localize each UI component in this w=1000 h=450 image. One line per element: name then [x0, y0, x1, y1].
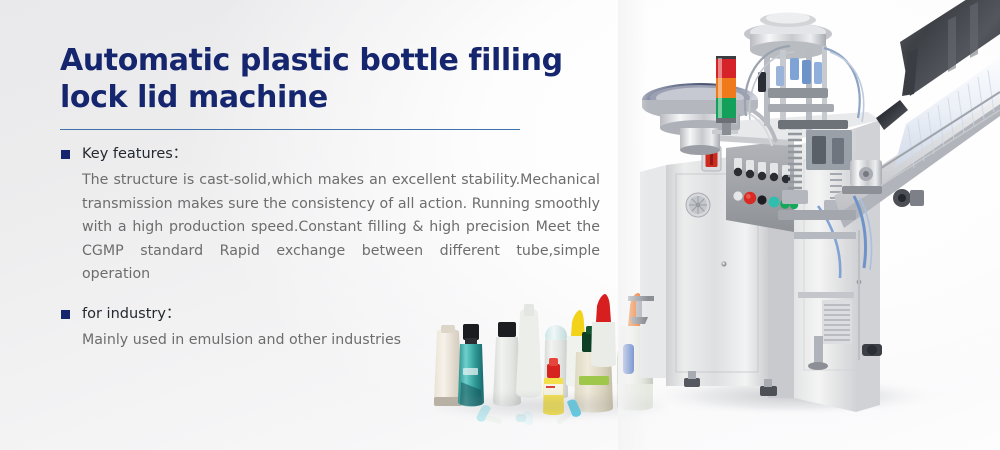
bullet-square-icon [61, 150, 70, 159]
section-body: Mainly used in emulsion and other indust… [60, 329, 600, 353]
section-key-features: Key features： The structure is cast-soli… [60, 145, 605, 287]
text-content: Automatic plastic bottle filling lock li… [60, 42, 605, 366]
machine-photo [618, 0, 1000, 450]
section-heading-label: for industry： [82, 306, 180, 322]
section-heading: for industry： [60, 305, 605, 324]
louvre-vent [822, 300, 852, 344]
bullet-square-icon [61, 310, 70, 319]
section-body: The structure is cast-solid,which makes … [60, 169, 600, 287]
title-divider [60, 129, 520, 130]
cooling-fan-vent [686, 193, 710, 217]
section-heading-label: Key features： [82, 146, 187, 162]
vibratory-bowl-feeder [642, 83, 776, 155]
section-heading: Key features： [60, 145, 605, 164]
page-title: Automatic plastic bottle filling lock li… [60, 42, 605, 116]
product-banner: Automatic plastic bottle filling lock li… [0, 0, 1000, 450]
section-for-industry: for industry： Mainly used in emulsion an… [60, 305, 605, 353]
